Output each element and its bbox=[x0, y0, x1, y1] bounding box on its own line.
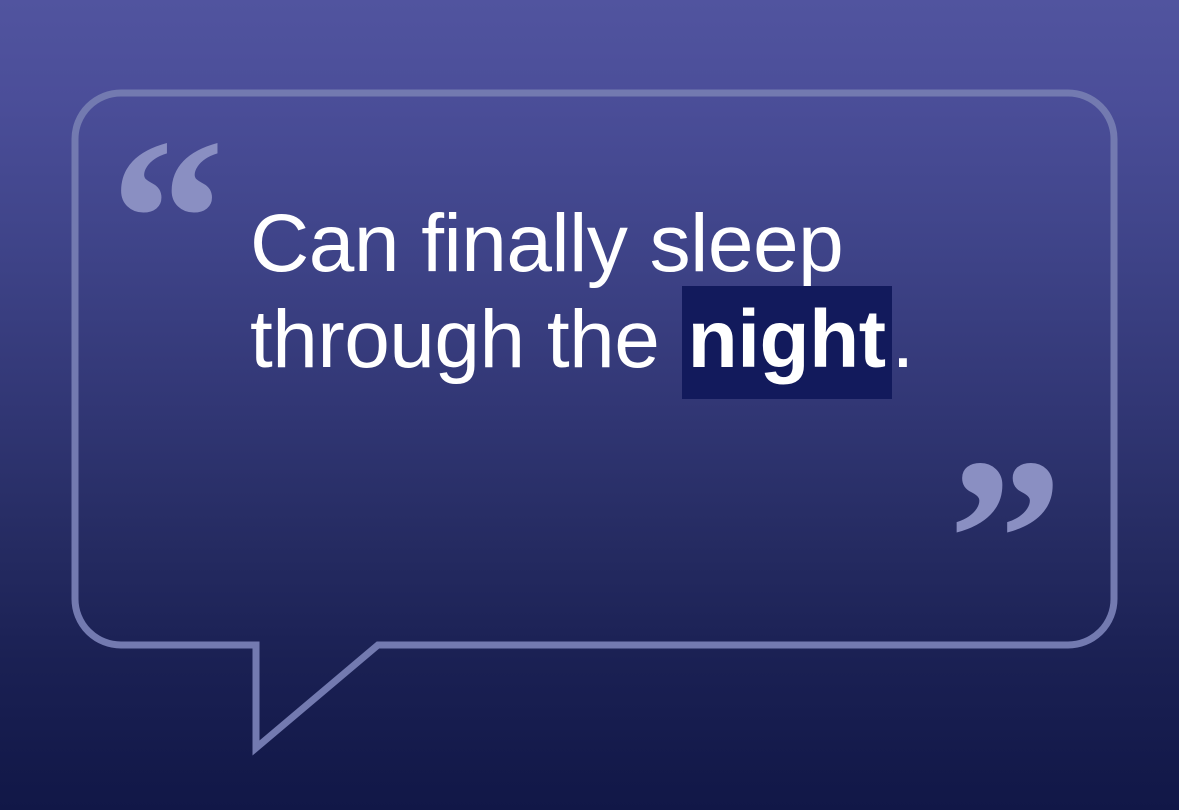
testimonial-quote-card: “ ” Can finally sleep through the night. bbox=[0, 0, 1179, 810]
quote-line-2-prefix: through the bbox=[250, 294, 682, 385]
quote-highlighted-word: night bbox=[682, 286, 892, 399]
closing-quote-icon: ” bbox=[948, 424, 1059, 654]
opening-quote-icon: “ bbox=[110, 104, 221, 334]
quote-line-1: Can finally sleep bbox=[250, 198, 843, 289]
quote-text-block: Can finally sleep through the night. bbox=[250, 196, 1040, 388]
quote-line-2-suffix: . bbox=[892, 294, 914, 385]
